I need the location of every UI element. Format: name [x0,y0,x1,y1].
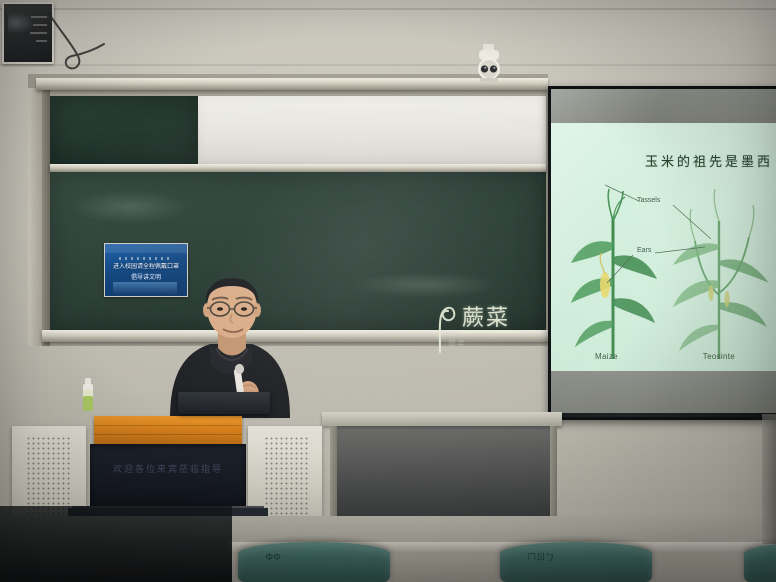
lectern-top-line-2 [94,434,242,435]
chair-graffiti: ㄇㄖㄅ [527,553,624,575]
chalkboard-writing: 蕨菜 [462,300,510,332]
projection-screen: 玉米的祖先是墨西 [548,86,776,420]
panel-line-3 [30,32,47,34]
poster-header-bar [105,244,187,253]
lectern-wood-top [94,416,242,444]
chalk-smudge-2 [350,272,500,298]
slide-label-teosinte: Teosinte [703,352,735,361]
chalk-underline [458,331,520,333]
screen-band-top [551,89,776,123]
lectern-right-speaker-grille [264,436,308,524]
ptz-camera-icon [470,44,508,82]
panel-line-4 [36,40,47,42]
back-desk-leg-right [550,426,557,518]
back-desk-body [330,426,556,522]
board-middle-rail [50,164,546,172]
right-wall-edge [762,414,776,544]
callout-tassels: Tassels [637,197,660,204]
slide-title: 玉米的祖先是墨西 [645,151,773,170]
wall-control-panel [2,2,54,64]
whiteboard-panel [198,96,546,164]
chair-graffiti [771,553,776,575]
board-left-edge [42,88,50,346]
blackboard-upper-left [50,96,198,164]
chair-graffiti: ФФ [265,553,362,575]
panel-line-2 [33,24,47,26]
lectern-top-line-1 [94,425,242,426]
back-desk-leg-left [330,426,337,518]
laptop-on-lectern [178,392,270,414]
foreground-shadow [0,506,232,582]
back-desk-top [322,412,562,426]
board-left-wing [28,88,42,346]
list-item: ФФ [238,542,390,582]
projected-slide: 玉米的祖先是墨西 [551,123,776,371]
lectern-front-panel: 欢迎各位来宾莅临指导 [90,444,246,506]
panel-line-1 [31,16,47,18]
wall-trim-lower [0,64,776,66]
list-item: ㄇㄖㄅ [500,542,652,582]
sanitizer-bottle [80,378,96,412]
callout-leader-lines [577,179,769,287]
lectern-front-text: 欢迎各位来宾莅临指导 [90,462,246,475]
wall-trim-upper [0,8,776,10]
screen-band-bottom [551,371,776,413]
chalkboard-faint-writing: 蕨类 [448,338,466,349]
callout-ears: Ears [637,247,651,254]
poster-divider [119,257,173,260]
classroom-photo: 蕨菜 蕨类 进入校园请全程佩戴口罩 倡导讲文明 玉米的祖先是墨西 [0,0,776,582]
slide-label-maize: Maize [595,352,618,361]
chalk-smudge-1 [70,190,190,224]
